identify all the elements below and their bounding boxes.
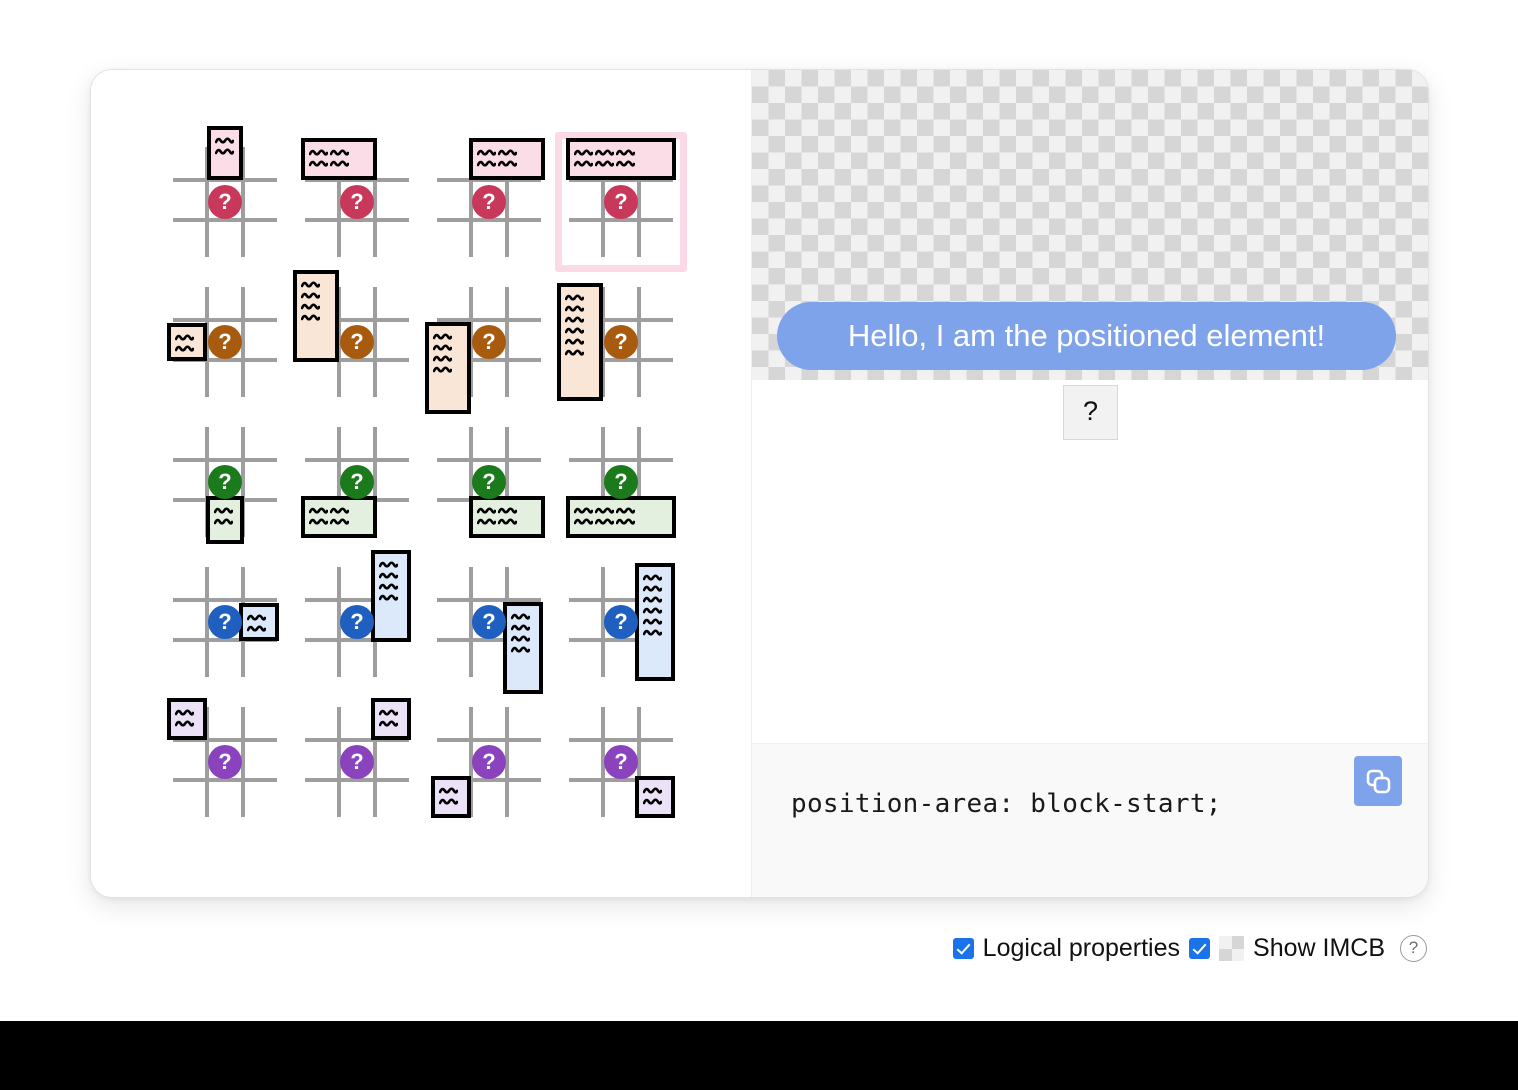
squiggle-icon xyxy=(643,627,662,638)
squiggle-icon xyxy=(511,611,530,622)
squiggle-icon xyxy=(309,505,328,516)
position-area-option[interactable]: ? xyxy=(159,272,291,412)
squiggle-icon xyxy=(511,633,530,644)
squiggle-row xyxy=(574,158,637,169)
squiggle-icon xyxy=(565,292,584,303)
squiggle-icon xyxy=(433,342,452,353)
squiggle-icon xyxy=(643,594,662,605)
position-area-option[interactable]: ? xyxy=(423,552,555,692)
squiggle-icon xyxy=(616,516,635,527)
option-positioned-box xyxy=(566,138,676,180)
squiggle-row xyxy=(175,332,196,343)
squiggle-row xyxy=(301,301,322,312)
squiggle-row xyxy=(309,505,351,516)
option-positioned-box xyxy=(371,550,411,642)
option-positioned-box xyxy=(469,138,545,180)
squiggle-row xyxy=(175,707,196,718)
squiggle-icon xyxy=(215,146,234,157)
squiggle-row xyxy=(309,516,351,527)
option-anchor-dot: ? xyxy=(340,325,374,359)
option-anchor-dot: ? xyxy=(472,325,506,359)
squiggle-row xyxy=(301,290,322,301)
option-anchor-dot: ? xyxy=(340,185,374,219)
option-anchor-dot: ? xyxy=(208,745,242,779)
squiggle-icon xyxy=(477,505,496,516)
squiggle-row xyxy=(301,312,322,323)
option-positioned-box xyxy=(206,496,244,544)
squiggle-icon xyxy=(309,147,328,158)
option-anchor-dot: ? xyxy=(604,325,638,359)
position-area-option[interactable]: ? xyxy=(423,412,555,552)
squiggle-row xyxy=(511,622,532,633)
squiggle-icon xyxy=(498,505,517,516)
squiggle-row xyxy=(511,611,532,622)
squiggle-icon xyxy=(214,516,233,527)
squiggle-row xyxy=(379,559,400,570)
logical-properties-control[interactable]: Logical properties xyxy=(953,934,1180,963)
squiggle-row xyxy=(574,505,637,516)
footer-controls: Logical properties Show IMCB ? xyxy=(0,923,1427,973)
position-area-option[interactable]: ? xyxy=(555,552,687,692)
squiggle-row xyxy=(175,718,196,729)
squiggle-row xyxy=(215,135,236,146)
option-anchor-dot: ? xyxy=(340,605,374,639)
preview-pane: Hello, I am the positioned element! ? po… xyxy=(751,70,1428,897)
squiggle-icon xyxy=(439,785,458,796)
squiggle-row xyxy=(477,505,519,516)
squiggle-row xyxy=(379,581,400,592)
squiggle-row xyxy=(477,158,519,169)
option-positioned-box xyxy=(425,322,471,414)
squiggle-icon xyxy=(301,279,320,290)
squiggle-icon xyxy=(477,147,496,158)
position-area-option[interactable]: ? xyxy=(291,412,423,552)
option-anchor-dot: ? xyxy=(604,465,638,499)
squiggle-icon xyxy=(175,343,194,354)
squiggle-row xyxy=(643,583,664,594)
position-area-option[interactable]: ? xyxy=(291,272,423,412)
squiggle-row xyxy=(574,147,637,158)
page-root: ???????????????????? Hello, I am the pos… xyxy=(0,0,1518,1090)
squiggle-row xyxy=(565,303,586,314)
position-area-code: position-area: block-start; xyxy=(791,789,1222,819)
option-anchor-dot: ? xyxy=(604,745,638,779)
squiggle-row xyxy=(247,623,268,634)
squiggle-row xyxy=(643,572,664,583)
squiggle-icon xyxy=(215,135,234,146)
squiggle-icon xyxy=(379,581,398,592)
squiggle-icon xyxy=(565,347,584,358)
squiggle-icon xyxy=(175,707,194,718)
squiggle-row xyxy=(433,342,454,353)
option-positioned-box xyxy=(301,138,377,180)
option-positioned-box xyxy=(239,603,279,641)
option-positioned-box xyxy=(167,323,207,361)
option-anchor-dot: ? xyxy=(208,465,242,499)
option-anchor-dot: ? xyxy=(604,605,638,639)
squiggle-icon xyxy=(379,559,398,570)
squiggle-icon xyxy=(595,147,614,158)
option-anchor-dot: ? xyxy=(472,185,506,219)
position-area-option[interactable]: ? xyxy=(291,692,423,832)
squiggle-icon xyxy=(330,516,349,527)
position-area-option[interactable]: ? xyxy=(159,132,291,272)
position-area-option[interactable]: ? xyxy=(159,552,291,692)
squiggle-icon xyxy=(175,332,194,343)
squiggle-icon xyxy=(643,583,662,594)
squiggle-row xyxy=(175,343,196,354)
squiggle-row xyxy=(379,570,400,581)
squiggle-icon xyxy=(309,516,328,527)
squiggle-row xyxy=(214,505,235,516)
squiggle-row xyxy=(439,796,460,807)
position-area-option[interactable]: ? xyxy=(423,692,555,832)
squiggle-icon xyxy=(214,505,233,516)
option-anchor-dot: ? xyxy=(340,745,374,779)
squiggle-row xyxy=(643,594,664,605)
option-positioned-box xyxy=(431,776,471,818)
squiggle-row xyxy=(643,796,664,807)
squiggle-icon xyxy=(379,570,398,581)
show-imcb-control[interactable]: Show IMCB xyxy=(1189,934,1385,963)
squiggle-row xyxy=(379,718,400,729)
options-pane: ???????????????????? xyxy=(91,70,751,897)
logical-properties-checkbox[interactable] xyxy=(953,938,974,959)
squiggle-icon xyxy=(247,623,266,634)
squiggle-icon xyxy=(643,616,662,627)
squiggle-row xyxy=(565,314,586,325)
option-anchor-dot: ? xyxy=(208,185,242,219)
squiggle-row xyxy=(511,633,532,644)
squiggle-icon xyxy=(477,516,496,527)
option-positioned-box xyxy=(167,698,207,740)
squiggle-row xyxy=(643,627,664,638)
squiggle-icon xyxy=(330,158,349,169)
option-anchor-dot: ? xyxy=(472,465,506,499)
logical-properties-label: Logical properties xyxy=(983,934,1180,963)
squiggle-icon xyxy=(330,147,349,158)
squiggle-icon xyxy=(616,158,635,169)
squiggle-icon xyxy=(595,505,614,516)
position-area-option[interactable]: ? xyxy=(555,692,687,832)
show-imcb-checkbox[interactable] xyxy=(1189,938,1210,959)
squiggle-row xyxy=(247,612,268,623)
squiggle-row xyxy=(214,516,235,527)
position-area-option[interactable]: ? xyxy=(291,132,423,272)
squiggle-row xyxy=(439,785,460,796)
squiggle-icon xyxy=(595,158,614,169)
squiggle-icon xyxy=(175,718,194,729)
squiggle-icon xyxy=(309,158,328,169)
squiggle-icon xyxy=(565,325,584,336)
option-anchor-dot: ? xyxy=(208,325,242,359)
squiggle-row xyxy=(565,336,586,347)
squiggle-icon xyxy=(379,707,398,718)
show-imcb-label: Show IMCB xyxy=(1253,934,1385,963)
copy-button[interactable] xyxy=(1354,756,1402,806)
option-anchor-dot: ? xyxy=(208,605,242,639)
squiggle-icon xyxy=(379,592,398,603)
squiggle-row xyxy=(643,785,664,796)
option-positioned-box xyxy=(635,776,675,818)
squiggle-row xyxy=(379,707,400,718)
option-positioned-box xyxy=(503,602,543,694)
squiggle-icon xyxy=(595,516,614,527)
option-positioned-box xyxy=(207,126,243,180)
squiggle-icon xyxy=(301,301,320,312)
squiggle-row xyxy=(379,592,400,603)
squiggle-row xyxy=(565,292,586,303)
squiggle-icon xyxy=(247,612,266,623)
squiggle-icon xyxy=(379,718,398,729)
position-area-option[interactable]: ? xyxy=(159,412,291,552)
squiggle-icon xyxy=(643,796,662,807)
squiggle-row xyxy=(574,516,637,527)
visualizer-card: ???????????????????? Hello, I am the pos… xyxy=(90,69,1429,898)
squiggle-row xyxy=(309,147,351,158)
option-positioned-box xyxy=(293,270,339,362)
squiggle-row xyxy=(565,325,586,336)
squiggle-row xyxy=(433,364,454,375)
squiggle-row xyxy=(643,605,664,616)
option-positioned-box xyxy=(371,698,411,740)
squiggle-icon xyxy=(477,158,496,169)
option-anchor-dot: ? xyxy=(604,185,638,219)
squiggle-icon xyxy=(565,336,584,347)
squiggle-icon xyxy=(498,516,517,527)
squiggle-row xyxy=(309,158,351,169)
position-area-option[interactable]: ? xyxy=(159,692,291,832)
position-area-options-grid[interactable]: ???????????????????? xyxy=(159,132,687,832)
squiggle-icon xyxy=(433,331,452,342)
position-area-option[interactable]: ? xyxy=(291,552,423,692)
position-area-option[interactable]: ? xyxy=(555,412,687,552)
position-area-option[interactable]: ? xyxy=(555,272,687,412)
squiggle-row xyxy=(433,353,454,364)
page-bottom-bar xyxy=(0,1021,1518,1090)
squiggle-icon xyxy=(574,516,593,527)
squiggle-icon xyxy=(498,158,517,169)
squiggle-row xyxy=(643,616,664,627)
position-area-option[interactable]: ? xyxy=(423,272,555,412)
option-positioned-box xyxy=(469,496,545,538)
squiggle-row xyxy=(511,644,532,655)
copy-icon xyxy=(1364,767,1392,795)
squiggle-icon xyxy=(301,290,320,301)
help-icon[interactable]: ? xyxy=(1400,935,1427,962)
position-area-option[interactable]: ? xyxy=(423,132,555,272)
squiggle-icon xyxy=(511,622,530,633)
option-positioned-box xyxy=(557,283,603,401)
position-area-option[interactable]: ? xyxy=(555,132,687,272)
squiggle-row xyxy=(477,516,519,527)
anchor-element[interactable]: ? xyxy=(1063,385,1118,440)
squiggle-icon xyxy=(643,785,662,796)
squiggle-icon xyxy=(565,314,584,325)
squiggle-icon xyxy=(439,796,458,807)
option-positioned-box xyxy=(301,496,377,538)
option-anchor-dot: ? xyxy=(472,605,506,639)
squiggle-icon xyxy=(301,312,320,323)
squiggle-icon xyxy=(565,303,584,314)
squiggle-icon xyxy=(330,505,349,516)
squiggle-row xyxy=(565,347,586,358)
imcb-swatch-icon xyxy=(1219,936,1244,961)
option-positioned-box xyxy=(635,563,675,681)
squiggle-row xyxy=(301,279,322,290)
option-anchor-dot: ? xyxy=(472,745,506,779)
positioned-element: Hello, I am the positioned element! xyxy=(777,302,1396,370)
option-positioned-box xyxy=(566,496,676,538)
squiggle-icon xyxy=(616,505,635,516)
squiggle-icon xyxy=(433,364,452,375)
squiggle-icon xyxy=(433,353,452,364)
squiggle-icon xyxy=(574,147,593,158)
squiggle-icon xyxy=(511,644,530,655)
squiggle-icon xyxy=(643,572,662,583)
squiggle-row xyxy=(433,331,454,342)
code-panel: position-area: block-start; xyxy=(752,743,1428,897)
squiggle-icon xyxy=(498,147,517,158)
squiggle-icon xyxy=(616,147,635,158)
squiggle-icon xyxy=(643,605,662,616)
squiggle-icon xyxy=(574,505,593,516)
option-anchor-dot: ? xyxy=(340,465,374,499)
squiggle-row xyxy=(215,146,236,157)
squiggle-icon xyxy=(574,158,593,169)
squiggle-row xyxy=(477,147,519,158)
